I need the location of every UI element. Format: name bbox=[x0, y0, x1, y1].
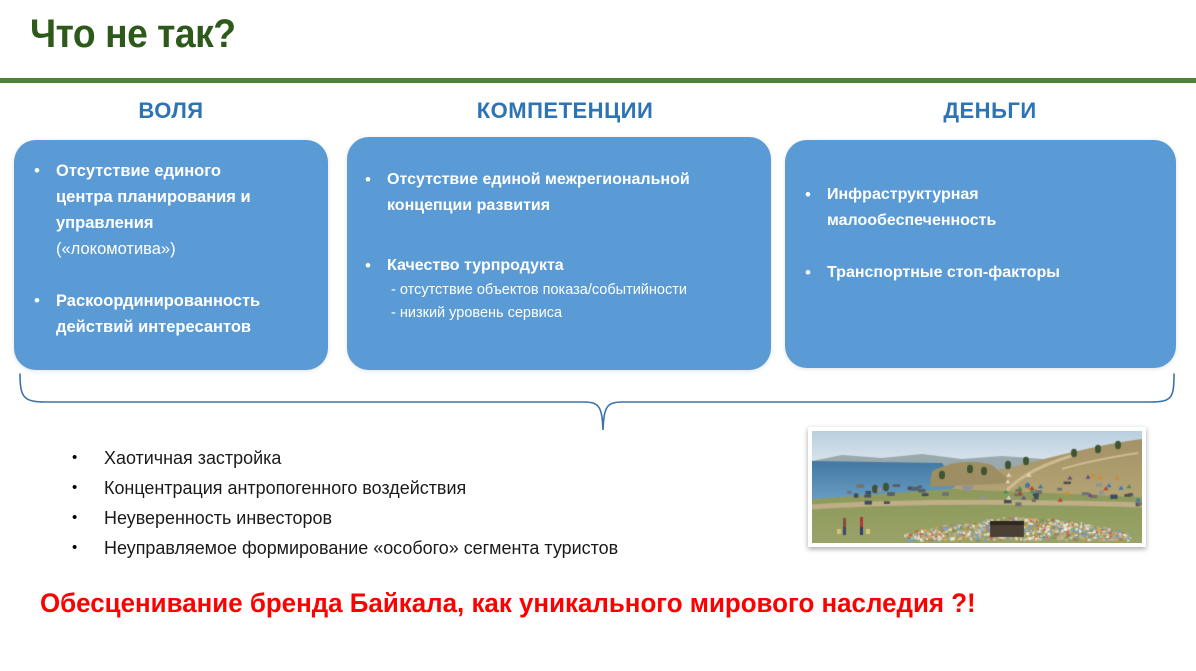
bullet-icon: • bbox=[359, 253, 387, 279]
footer-warning-text: Обесценивание бренда Байкала, как уникал… bbox=[40, 588, 1125, 619]
outcome-list: • Хаотичная застройка • Концентрация ант… bbox=[72, 443, 772, 563]
bullet-text: действий интересантов bbox=[56, 314, 314, 340]
title-divider bbox=[0, 78, 1196, 83]
card-money: • Инфраструктурная малообеспеченность • … bbox=[785, 140, 1176, 368]
spacer bbox=[799, 234, 1162, 260]
bullet-icon: • bbox=[799, 260, 827, 286]
bullet-icon: • bbox=[72, 443, 104, 473]
bullet-text: управления bbox=[56, 210, 314, 236]
bullet-icon: • bbox=[28, 288, 56, 314]
list-item-label: Концентрация антропогенного воздействия bbox=[104, 473, 752, 503]
curly-brace-connector bbox=[14, 372, 1180, 434]
bullet-text: Отсутствие единого bbox=[56, 158, 314, 184]
list-item: • Отсутствие единого центра планирования… bbox=[28, 158, 314, 262]
bullet-text: Качество турпродукта bbox=[387, 253, 759, 279]
bullet-icon: • bbox=[28, 158, 56, 184]
bullet-text: Отсутствие единой межрегиональной bbox=[387, 167, 759, 193]
baikal-landfill-photo bbox=[812, 431, 1142, 543]
bullet-icon: • bbox=[72, 503, 104, 533]
bullet-icon: • bbox=[72, 473, 104, 503]
page-title: Что не так? bbox=[30, 12, 236, 57]
bullet-text: малообеспеченность bbox=[827, 208, 1162, 234]
photo-frame bbox=[808, 427, 1146, 547]
bullet-text: Инфраструктурная bbox=[827, 182, 1162, 208]
spacer bbox=[28, 262, 314, 288]
card-competence: • Отсутствие единой межрегиональной конц… bbox=[347, 137, 771, 370]
bullet-text: центра планирования и bbox=[56, 184, 314, 210]
list-item: • Раскоординированность действий интерес… bbox=[28, 288, 314, 340]
list-item: • Качество турпродукта - отсутствие объе… bbox=[359, 253, 759, 325]
card-will: • Отсутствие единого центра планирования… bbox=[14, 140, 328, 370]
list-item: • Неуверенность инвесторов bbox=[72, 503, 772, 533]
bullet-text: Раскоординированность bbox=[56, 288, 314, 314]
bullet-subtext: - низкий уровень сервиса bbox=[387, 302, 759, 325]
bullet-subtext: - отсутствие объектов показа/событийност… bbox=[387, 279, 759, 302]
bullet-text: концепции развития bbox=[387, 193, 759, 219]
bullet-icon: • bbox=[72, 533, 104, 563]
spacer bbox=[359, 219, 759, 253]
column-header-will: ВОЛЯ bbox=[76, 98, 266, 124]
list-item-label: Неуправляемое формирование «особого» сег… bbox=[104, 533, 752, 563]
bullet-icon: • bbox=[799, 182, 827, 208]
column-header-competence: КОМПЕТЕНЦИИ bbox=[455, 98, 675, 124]
bullet-icon: • bbox=[359, 167, 387, 193]
list-item: • Инфраструктурная малообеспеченность bbox=[799, 182, 1162, 234]
list-item: • Транспортные стоп-факторы bbox=[799, 260, 1162, 286]
bullet-subtext: («локомотива») bbox=[56, 236, 314, 262]
list-item: • Хаотичная застройка bbox=[72, 443, 772, 473]
list-item: • Концентрация антропогенного воздействи… bbox=[72, 473, 772, 503]
list-item: • Неуправляемое формирование «особого» с… bbox=[72, 533, 772, 563]
list-item-label: Неуверенность инвесторов bbox=[104, 503, 752, 533]
list-item: • Отсутствие единой межрегиональной конц… bbox=[359, 167, 759, 219]
list-item-label: Хаотичная застройка bbox=[104, 443, 752, 473]
column-header-money: ДЕНЬГИ bbox=[890, 98, 1090, 124]
bullet-text: Транспортные стоп-факторы bbox=[827, 260, 1162, 286]
